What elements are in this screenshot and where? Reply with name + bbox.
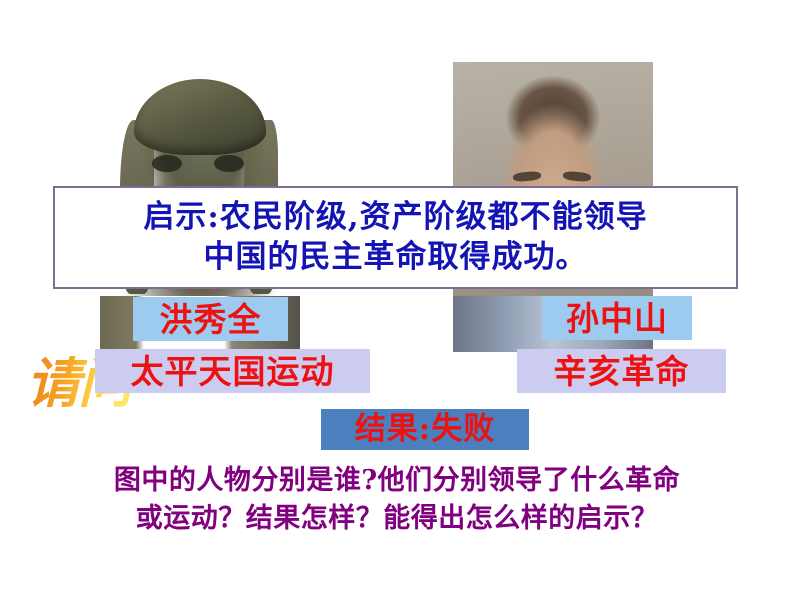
portrait-brow-left	[513, 171, 542, 183]
label-hong-xiuquan: 洪秀全	[133, 297, 288, 341]
insight-callout-box: 启示:农民阶级,资产阶级都不能领导 中国的民主革命取得成功。	[53, 186, 738, 289]
statue-eye-right	[214, 155, 244, 172]
statue-headwrap	[134, 79, 266, 154]
label-sun-yat-sen: 孙中山	[542, 296, 692, 340]
portrait-brow-right	[563, 171, 592, 183]
statue-eye-left	[152, 155, 182, 172]
insight-text: 启示:农民阶级,资产阶级都不能领导 中国的民主革命取得成功。	[143, 198, 647, 277]
question-text: 图中的人物分别是谁?他们分别领导了什么革命 或运动？结果怎样？能得出怎么样的启示…	[40, 462, 754, 539]
label-xinhai-revolution: 辛亥革命	[517, 349, 726, 393]
presentation-slide: 请问 启示:农民阶级,资产阶级都不能领导 中国的民主革命取得成功。 洪秀全 孙中…	[0, 0, 794, 596]
label-taiping-movement: 太平天国运动	[95, 349, 370, 393]
label-result-failure: 结果:失败	[321, 409, 529, 450]
